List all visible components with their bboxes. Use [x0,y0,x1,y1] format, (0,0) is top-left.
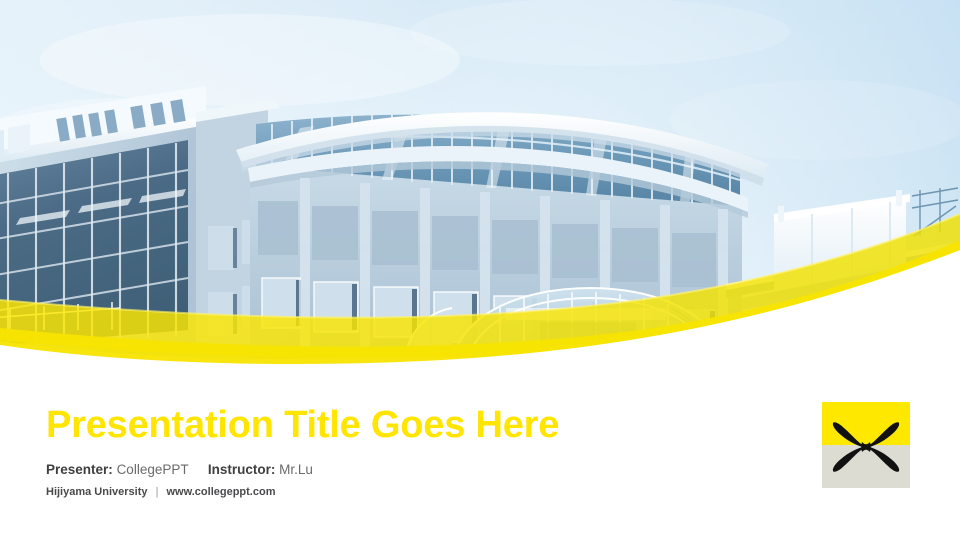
page-title: Presentation Title Goes Here [46,406,786,446]
affiliation-row: Hijiyama University | www.collegeppt.com [46,486,786,498]
presenter-label: Presenter: [46,462,113,477]
credits-row: Presenter: CollegePPT Instructor: Mr.Lu [46,462,786,477]
hijiyama-university-logo [822,402,910,488]
hero-photo-banner [0,0,960,380]
website-url[interactable]: www.collegeppt.com [166,486,275,498]
instructor-name: Mr.Lu [279,462,313,477]
instructor-label: Instructor: [208,462,276,477]
campus-building-photo [0,0,960,380]
title-block: Presentation Title Goes Here Presenter: … [46,406,786,498]
presenter-name: CollegePPT [117,462,189,477]
university-name: Hijiyama University [46,486,148,498]
presentation-slide: Presentation Title Goes Here Presenter: … [0,0,960,540]
affiliation-separator: | [151,486,164,498]
logo-icon [822,402,910,488]
